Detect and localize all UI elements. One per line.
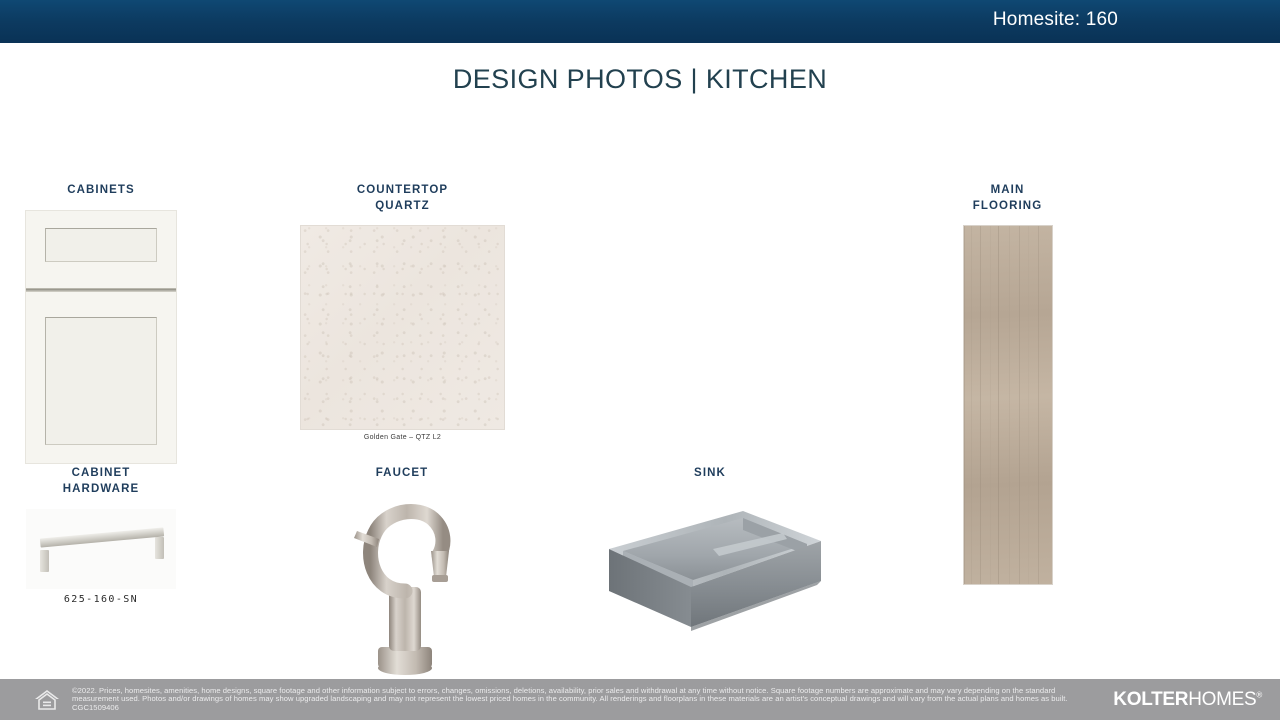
quartz-slab-swatch xyxy=(301,226,504,429)
flooring-label: MAIN FLOORING xyxy=(930,182,1085,214)
panel-sink: SINK xyxy=(630,465,790,643)
panel-cabinets: CABINETS xyxy=(12,182,190,463)
kolter-homes-logo: KOLTERHOMES® xyxy=(1113,689,1262,711)
cabinet-pull-swatch xyxy=(26,509,176,589)
panel-hardware: CABINET HARDWARE 625-160-SN xyxy=(12,465,190,605)
pull-bar xyxy=(40,527,164,547)
countertop-caption: Golden Gate – QTZ L2 xyxy=(300,434,505,441)
brand-light-text: HOMES xyxy=(1188,689,1256,710)
footer-bar: ©2022. Prices, homesites, amenities, hom… xyxy=(0,679,1280,720)
cabinet-drawer-recess xyxy=(45,228,157,262)
panel-countertop: COUNTERTOP QUARTZ Golden Gate – QTZ L2 xyxy=(300,182,505,441)
cabinet-door-swatch xyxy=(26,211,176,463)
countertop-label: COUNTERTOP QUARTZ xyxy=(300,182,505,214)
page-title: DESIGN PHOTOS | KITCHEN xyxy=(0,64,1280,95)
homesite-label: Homesite: 160 xyxy=(993,9,1280,31)
stainless-sink-image xyxy=(595,503,825,643)
cabinet-door-recess xyxy=(45,317,157,445)
faucet-label: FAUCET xyxy=(322,465,482,481)
cabinet-drawer-front xyxy=(26,211,176,289)
header-bar: Homesite: 160 xyxy=(0,0,1280,40)
registered-trademark-icon: ® xyxy=(1256,690,1262,699)
sink-label: SINK xyxy=(630,465,790,481)
panel-faucet: FAUCET xyxy=(322,465,482,680)
pull-left-post xyxy=(40,550,49,572)
faucet-illustration xyxy=(327,495,477,680)
cabinet-door-front xyxy=(26,292,176,463)
sink-illustration xyxy=(595,503,825,643)
kitchen-faucet-image xyxy=(327,495,477,680)
pull-right-post xyxy=(155,537,164,559)
header-underline xyxy=(0,40,1280,43)
hardware-sku-caption: 625-160-SN xyxy=(12,594,190,605)
footer-disclaimer: ©2022. Prices, homesites, amenities, hom… xyxy=(72,687,1092,713)
wood-plank-swatch xyxy=(964,226,1052,584)
hardware-label: CABINET HARDWARE xyxy=(12,465,190,497)
cabinets-label: CABINETS xyxy=(12,182,190,198)
panel-flooring: MAIN FLOORING xyxy=(930,182,1085,584)
brand-bold-text: KOLTER xyxy=(1113,689,1188,710)
equal-housing-opportunity-icon xyxy=(34,688,60,712)
